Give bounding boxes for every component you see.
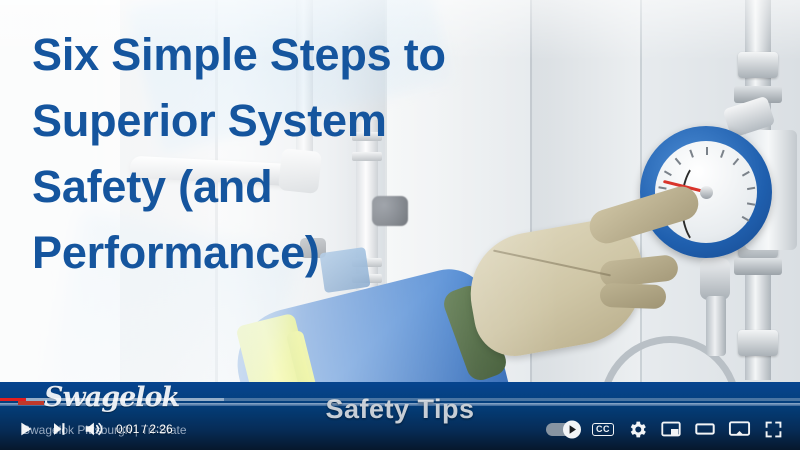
cast-button[interactable] [722,412,756,446]
title-line-4: Performance) [32,220,592,286]
glove-finger [600,283,667,309]
player-controls[interactable]: Swagelok Pittsburgh | Tri-State 0:01 / [0,398,800,450]
fullscreen-button[interactable] [756,412,790,446]
controls-left-group: 0:01 / 2:26 [0,412,173,446]
controls-row: 0:01 / 2:26 CC [0,408,800,450]
pipe-nut [734,258,782,275]
video-player[interactable]: Six Simple Steps to Superior System Safe… [0,0,800,450]
gauge-hub [700,186,713,199]
progress-bar-track[interactable] [0,398,800,401]
settings-gear-button[interactable] [620,412,654,446]
miniplayer-button[interactable] [654,412,688,446]
pipe-fitting [738,330,778,356]
title-line-3: Safety (and [32,154,592,220]
title-line-1: Six Simple Steps to [32,22,592,88]
title-line-2: Superior System [32,88,592,154]
subtitles-cc-button[interactable]: CC [586,412,620,446]
progress-buffered [0,398,224,401]
next-video-icon[interactable] [42,412,76,446]
gauge-bottom-fitting [700,258,730,300]
video-title: Six Simple Steps to Superior System Safe… [32,22,592,287]
progress-played [0,398,26,401]
controls-right-group: CC [542,412,800,446]
gauge-stem [706,296,726,356]
play-icon[interactable] [8,412,42,446]
cc-label: CC [592,423,614,436]
autoplay-toggle[interactable] [542,412,586,446]
time-display: 0:01 / 2:26 [116,422,173,436]
theater-mode-button[interactable] [688,412,722,446]
volume-icon[interactable] [76,412,110,446]
